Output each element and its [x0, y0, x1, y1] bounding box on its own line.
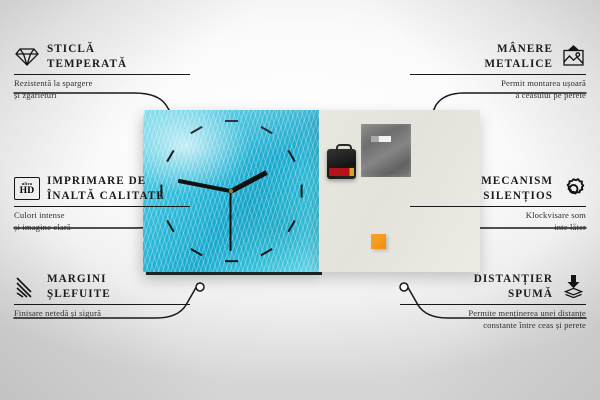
- feature-sub-line1: Rezistentă la spargere: [14, 78, 93, 88]
- hanging-picture-icon: [560, 45, 586, 69]
- clock-tick: [190, 247, 202, 255]
- feature-sub-line2: și imagine clară: [14, 222, 71, 232]
- divider: [14, 74, 190, 75]
- feature-title-line2: SPUMĂ: [508, 288, 553, 300]
- infographic-canvas: STICLĂ TEMPERATĂ Rezistentă la spargere …: [0, 0, 600, 400]
- feature-title-line1: IMPRIMARE DE: [47, 175, 146, 187]
- feature-sub-line1: Permite menținerea unei distanțe: [468, 308, 586, 318]
- feature-title-line2: ÎNALTĂ CALITATE: [47, 190, 165, 202]
- clock-tick: [225, 260, 238, 262]
- feature-sub-line2: inte låter: [554, 222, 586, 232]
- clock-tick: [300, 184, 302, 197]
- feature-title-line2: TEMPERATĂ: [47, 58, 127, 70]
- feature-title-line1: MARGINI: [47, 273, 107, 285]
- feature-sub-line2: a ceasului pe perete: [515, 90, 586, 100]
- divider: [14, 304, 190, 305]
- ultra-hd-icon-bottom: HD: [20, 186, 35, 196]
- feature-title-line1: STICLĂ: [47, 43, 95, 55]
- feature-polished-edges: MARGINI ȘLEFUITE Finisare netedă și sigu…: [14, 272, 190, 320]
- clock-tick: [287, 150, 295, 162]
- feature-title-line2: SILENȚIOS: [483, 190, 553, 202]
- clock-tick: [260, 126, 272, 134]
- feature-sub-line1: Permit montarea ușoară: [501, 78, 586, 88]
- gear-icon: [560, 177, 586, 201]
- clock-tick: [260, 247, 272, 255]
- feature-metal-handles: MÂNERE METALICE Permit montarea ușoară a…: [410, 42, 586, 101]
- mechanism-loop: [336, 144, 352, 153]
- battery: [329, 168, 354, 176]
- diamond-icon: [14, 45, 40, 69]
- divider: [410, 206, 586, 207]
- feature-title-line1: DISTANȚIER: [474, 273, 553, 285]
- diagonal-lines-icon: [14, 275, 40, 299]
- metal-hanger: [361, 124, 411, 177]
- clock-second-hand: [230, 191, 232, 251]
- feature-sub-line1: Finisare netedă și sigură: [14, 308, 101, 318]
- clock-tick: [166, 150, 174, 162]
- ultra-hd-icon: ultra HD: [14, 177, 40, 201]
- divider: [410, 74, 586, 75]
- feature-title-line2: ȘLEFUITE: [47, 288, 111, 300]
- clock-tick: [225, 120, 238, 122]
- clock-center-pin: [229, 189, 233, 193]
- feature-tempered-glass: STICLĂ TEMPERATĂ Rezistentă la spargere …: [14, 42, 190, 101]
- feature-title-line1: MÂNERE: [497, 43, 553, 55]
- divider: [400, 304, 586, 305]
- arrow-into-layers-icon: [560, 275, 586, 299]
- connector-dot-polished-edges: [196, 283, 204, 291]
- clock-mechanism: [327, 149, 356, 179]
- feature-sub-line2: constante între ceas și perete: [483, 320, 586, 330]
- feature-sub-line1: Klockvisare som: [526, 210, 586, 220]
- feature-silent-mechanism: MECANISM SILENȚIOS Klockvisare som inte …: [410, 174, 586, 233]
- divider: [14, 206, 190, 207]
- clock-tick: [190, 126, 202, 134]
- feature-foam-spacer: DISTANȚIER SPUMĂ Permite menținerea unei…: [400, 272, 586, 331]
- feature-title-line1: MECANISM: [481, 175, 553, 187]
- feature-title-line2: METALICE: [485, 58, 554, 70]
- feature-sub-line2: și zgârieturi: [14, 90, 57, 100]
- clock-hour-hand: [230, 170, 267, 193]
- clock-tick: [287, 220, 295, 232]
- feature-sub-line1: Culori intense: [14, 210, 65, 220]
- feature-high-quality-print: ultra HD IMPRIMARE DE ÎNALTĂ CALITATE Cu…: [14, 174, 190, 233]
- foam-spacer: [371, 234, 386, 249]
